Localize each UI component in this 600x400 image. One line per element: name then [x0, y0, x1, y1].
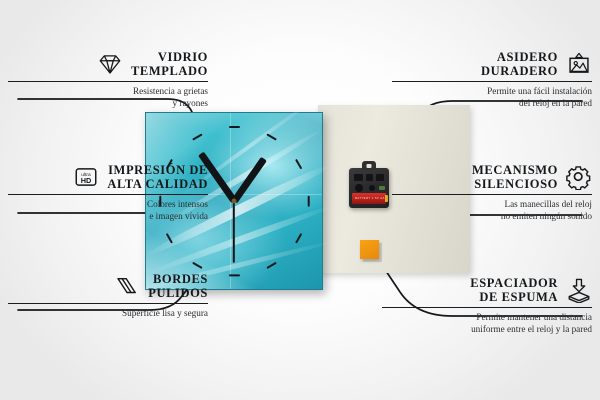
divider	[8, 81, 208, 82]
divider	[8, 194, 208, 195]
clock-tick	[192, 133, 203, 141]
down-arrow-layers-icon	[566, 277, 592, 303]
clock-tick	[266, 261, 277, 269]
divider	[392, 81, 592, 82]
feature-mecanismo-silencioso: MECANISMO SILENCIOSO Las manecillas del …	[392, 163, 592, 222]
battery-label: BATTERY 1.5V AA	[355, 196, 385, 200]
feature-vidrio-templado: VIDRIO TEMPLADO Resistencia a grietas y …	[8, 50, 208, 109]
divider	[392, 194, 592, 195]
feature-title-line1: VIDRIO	[158, 50, 208, 64]
feature-desc-line2: uniforme entre el reloj y la pared	[471, 324, 592, 334]
feature-desc-line2: no emiten ningún sonido	[501, 211, 592, 221]
clock-hub	[232, 199, 237, 204]
feature-title-line2: SILENCIOSO	[474, 177, 558, 191]
feature-espaciador-espuma: ESPACIADOR DE ESPUMA Permite mantener un…	[382, 276, 592, 335]
feature-desc-line2: y rayones	[173, 98, 208, 108]
clock-tick	[294, 233, 302, 244]
clock-tick	[229, 274, 240, 276]
gear-icon	[566, 164, 592, 190]
feature-title-line2: TEMPLADO	[131, 64, 208, 78]
feature-title-line2: ALTA CALIDAD	[107, 177, 208, 191]
polished-edges-icon	[114, 273, 140, 299]
feature-title-line2: PULIDOS	[148, 286, 208, 300]
hour-hand	[231, 157, 266, 203]
clock-mechanism: BATTERY 1.5V AA	[349, 168, 389, 208]
feature-title-line1: IMPRESIÓN DE	[108, 163, 208, 177]
clock-tick	[166, 233, 174, 244]
second-hand	[233, 201, 235, 263]
framed-picture-icon	[566, 51, 592, 77]
feature-bordes-pulidos: BORDES PULIDOS Superficie lisa y segura	[8, 272, 208, 320]
clock-tick	[266, 133, 277, 141]
feature-desc-line1: Superficie lisa y segura	[122, 308, 208, 318]
svg-text:HD: HD	[81, 176, 92, 185]
feature-desc-line1: Colores intensos	[147, 199, 208, 209]
feature-title-line1: MECANISMO	[472, 163, 558, 177]
divider	[382, 307, 592, 308]
diamond-icon	[97, 51, 123, 77]
feature-title-line1: ASIDERO	[497, 50, 558, 64]
feature-title-line1: BORDES	[153, 272, 208, 286]
divider	[8, 303, 208, 304]
feature-asidero-duradero: ASIDERO DURADERO Permite una fácil insta…	[392, 50, 592, 109]
foam-spacer	[360, 240, 379, 259]
clock-tick	[307, 195, 309, 206]
clock-tick	[192, 261, 203, 269]
feature-title-line1: ESPACIADOR	[470, 276, 558, 290]
feature-title-line2: DURADERO	[481, 64, 558, 78]
infographic-canvas: BATTERY 1.5V AA VIDRIO TEMPLADO Resisten…	[0, 0, 600, 400]
feature-desc-line2: del reloj en la pared	[519, 98, 592, 108]
feature-desc-line1: Permite una fácil instalación	[487, 86, 592, 96]
clock-tick	[229, 126, 240, 128]
feature-title-line2: DE ESPUMA	[479, 290, 558, 304]
feature-impresion-alta-calidad: ultra HD IMPRESIÓN DE ALTA CALIDAD Color…	[8, 163, 208, 222]
feature-desc-line1: Las manecillas del reloj	[504, 199, 592, 209]
feature-desc-line2: e imagen vívida	[149, 211, 208, 221]
ultra-hd-icon: ultra HD	[73, 164, 99, 190]
feature-desc-line1: Permite mantener una distancia	[476, 312, 592, 322]
feature-desc-line1: Resistencia a grietas	[133, 86, 208, 96]
clock-battery: BATTERY 1.5V AA	[352, 193, 386, 204]
clock-tick	[294, 159, 302, 170]
